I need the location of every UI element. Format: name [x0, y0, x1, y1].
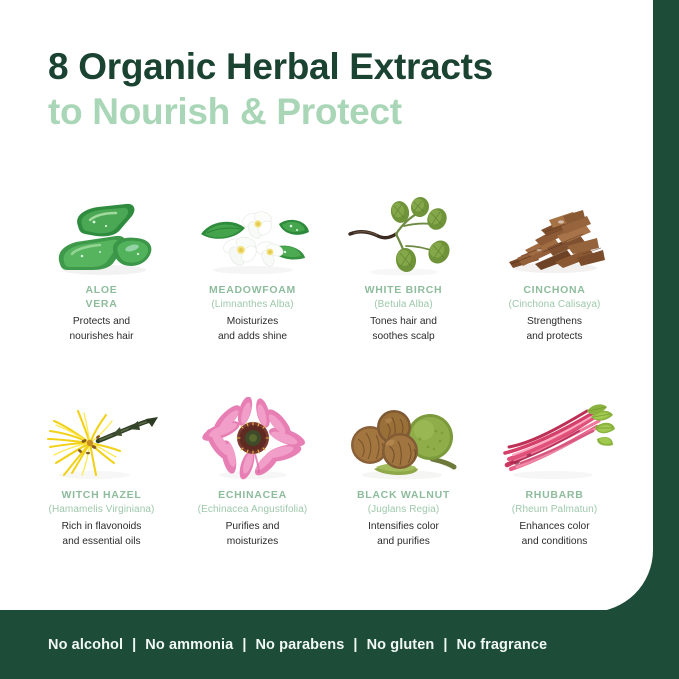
extract-latin-name: (Betula Alba) — [365, 298, 443, 313]
extract-labels: BLACK WALNUT (Juglans Regia) Intensifies… — [357, 489, 450, 550]
extract-benefit: Purifies and moisturizes — [198, 520, 308, 550]
extract-benefit: Intensifies color and purifies — [357, 520, 450, 550]
extract-card-black-walnut: BLACK WALNUT (Juglans Regia) Intensifies… — [328, 395, 479, 600]
extract-latin-name: (Echinacea Angustifolia) — [198, 503, 308, 518]
herbal-extracts-infographic: 8 Organic Herbal Extracts to Nourish & P… — [0, 0, 679, 679]
extract-benefit: Enhances color and conditions — [512, 520, 598, 550]
extract-benefit: Moisturizes and adds shine — [209, 315, 296, 345]
extract-card-white-birch: WHITE BIRCH (Betula Alba) Tones hair and… — [328, 190, 479, 395]
claim-separator: | — [233, 637, 255, 653]
witch-hazel-yellow-flower-icon — [37, 395, 167, 483]
extract-benefit: Protects and nourishes hair — [70, 315, 134, 345]
headline-block: 8 Organic Herbal Extracts to Nourish & P… — [48, 44, 618, 134]
claim-no-parabens: No parabens — [255, 637, 344, 653]
extract-latin-name: (Limnanthes Alba) — [209, 298, 296, 313]
extract-latin-name: (Hamamelis Virginiana) — [49, 503, 155, 518]
extract-common-name: WHITE BIRCH — [365, 284, 443, 298]
extract-common-name: ECHINACEA — [198, 489, 308, 503]
extract-labels: WITCH HAZEL (Hamamelis Virginiana) Rich … — [49, 489, 155, 550]
extract-card-echinacea: ECHINACEA (Echinacea Angustifolia) Purif… — [177, 395, 328, 600]
extract-latin-name: (Juglans Regia) — [357, 503, 450, 518]
free-from-claims-bar: No alcohol | No ammonia | No parabens | … — [0, 610, 679, 679]
cinchona-bark-chips-icon — [490, 190, 620, 278]
extract-benefit: Strengthens and protects — [509, 315, 601, 345]
extract-latin-name: (Rheum Palmatun) — [512, 503, 598, 518]
aloe-vera-leaves-icon — [37, 190, 167, 278]
extract-card-aloe-vera: ALOE VERA Protects and nourishes hair — [26, 190, 177, 395]
extract-common-name: CINCHONA — [509, 284, 601, 298]
extract-benefit: Rich in flavonoids and essential oils — [49, 520, 155, 550]
extract-labels: CINCHONA (Cinchona Calisaya) Strengthens… — [509, 284, 601, 345]
extract-labels: ALOE VERA Protects and nourishes hair — [70, 284, 134, 344]
extract-card-rhubarb: RHUBARB (Rheum Palmatun) Enhances color … — [479, 395, 630, 600]
claim-no-alcohol: No alcohol — [48, 637, 123, 653]
claim-no-fragrance: No fragrance — [457, 637, 548, 653]
extract-labels: MEADOWFOAM (Limnanthes Alba) Moisturizes… — [209, 284, 296, 345]
extract-common-name: MEADOWFOAM — [209, 284, 296, 298]
headline-primary: 8 Organic Herbal Extracts — [48, 44, 618, 89]
extracts-grid: ALOE VERA Protects and nourishes hair — [26, 190, 630, 600]
meadowfoam-white-flowers-icon — [188, 190, 318, 278]
extract-benefit: Tones hair and soothes scalp — [365, 315, 443, 345]
extract-labels: ECHINACEA (Echinacea Angustifolia) Purif… — [198, 489, 308, 550]
claim-no-gluten: No gluten — [367, 637, 435, 653]
extract-card-witch-hazel: WITCH HAZEL (Hamamelis Virginiana) Rich … — [26, 395, 177, 600]
rhubarb-pink-stalks-icon — [490, 395, 620, 483]
extract-labels: RHUBARB (Rheum Palmatun) Enhances color … — [512, 489, 598, 550]
claim-no-ammonia: No ammonia — [145, 637, 233, 653]
extract-card-meadowfoam: MEADOWFOAM (Limnanthes Alba) Moisturizes… — [177, 190, 328, 395]
extract-common-name: WITCH HAZEL — [49, 489, 155, 503]
extract-latin-name: (Cinchona Calisaya) — [509, 298, 601, 313]
headline-secondary: to Nourish & Protect — [48, 89, 618, 134]
extract-common-name: RHUBARB — [512, 489, 598, 503]
claim-separator: | — [434, 637, 456, 653]
claim-separator: | — [344, 637, 366, 653]
extract-labels: WHITE BIRCH (Betula Alba) Tones hair and… — [365, 284, 443, 345]
extract-common-name: BLACK WALNUT — [357, 489, 450, 503]
claim-separator: | — [123, 637, 145, 653]
extract-common-name: ALOE VERA — [70, 284, 134, 312]
white-birch-catkins-branch-icon — [339, 190, 469, 278]
echinacea-pink-flower-icon — [188, 395, 318, 483]
claims-list: No alcohol | No ammonia | No parabens | … — [48, 637, 547, 653]
extract-card-cinchona: CINCHONA (Cinchona Calisaya) Strengthens… — [479, 190, 630, 395]
black-walnut-nuts-husk-icon — [339, 395, 469, 483]
